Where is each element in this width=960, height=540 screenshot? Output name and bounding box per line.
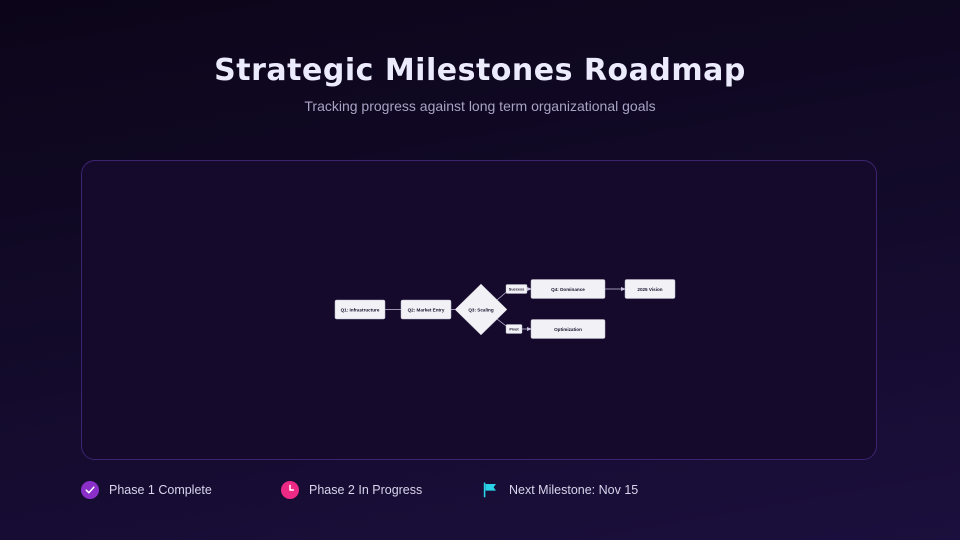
- node-label: Q1: Infrastructure: [341, 307, 380, 312]
- diagram-canvas: Q1: Infrastructure Q2: Market Entry Q3: …: [81, 160, 877, 460]
- page-title: Strategic Milestones Roadmap: [0, 52, 960, 90]
- node-optimization[interactable]: Optimization: [531, 320, 605, 339]
- legend-item-label: Next Milestone: Nov 15: [509, 481, 638, 499]
- diagram-container: Q1: Infrastructure Q2: Market Entry Q3: …: [82, 161, 878, 461]
- edge-label-success: Success: [506, 285, 527, 294]
- roadmap-page: Strategic Milestones Roadmap Tracking pr…: [0, 0, 960, 540]
- page-subtitle: Tracking progress against long term orga…: [0, 97, 960, 115]
- node-q2-market-entry[interactable]: Q2: Market Entry: [401, 300, 451, 319]
- legend-item-next-milestone[interactable]: Next Milestone: Nov 15: [481, 476, 638, 504]
- node-label: Optimization: [554, 327, 582, 332]
- node-label: 2025 Vision: [637, 287, 662, 292]
- roadmap-flowchart: Q1: Infrastructure Q2: Market Entry Q3: …: [82, 161, 878, 461]
- node-label: Q4: Dominance: [551, 287, 585, 292]
- legend-item-label: Phase 1 Complete: [109, 481, 212, 499]
- node-q1-infrastructure[interactable]: Q1: Infrastructure: [335, 300, 385, 319]
- flag-icon: [481, 481, 499, 499]
- node-label: Q2: Market Entry: [408, 307, 445, 312]
- legend-item-phase-2-in-progress[interactable]: Phase 2 In Progress: [281, 476, 422, 504]
- node-q4-dominance[interactable]: Q4: Dominance: [531, 280, 605, 299]
- legend-bar: Phase 1 Complete Phase 2 In Progress Nex…: [81, 476, 877, 504]
- node-label: Q3: Scaling: [468, 307, 493, 312]
- node-q3-scaling[interactable]: Q3: Scaling: [455, 284, 507, 335]
- legend-item-phase-1-complete[interactable]: Phase 1 Complete: [81, 476, 212, 504]
- page-header: Strategic Milestones Roadmap Tracking pr…: [0, 52, 960, 115]
- clock-circle-icon: [281, 481, 299, 499]
- node-2025-vision[interactable]: 2025 Vision: [625, 280, 675, 299]
- edge-label-text: Pivot: [509, 327, 519, 331]
- edge-label-pivot: Pivot: [506, 325, 522, 334]
- edge-q4-vision: [605, 287, 626, 291]
- edge-label-text: Success: [509, 287, 524, 291]
- check-circle-icon: [81, 481, 99, 499]
- legend-item-label: Phase 2 In Progress: [309, 481, 422, 499]
